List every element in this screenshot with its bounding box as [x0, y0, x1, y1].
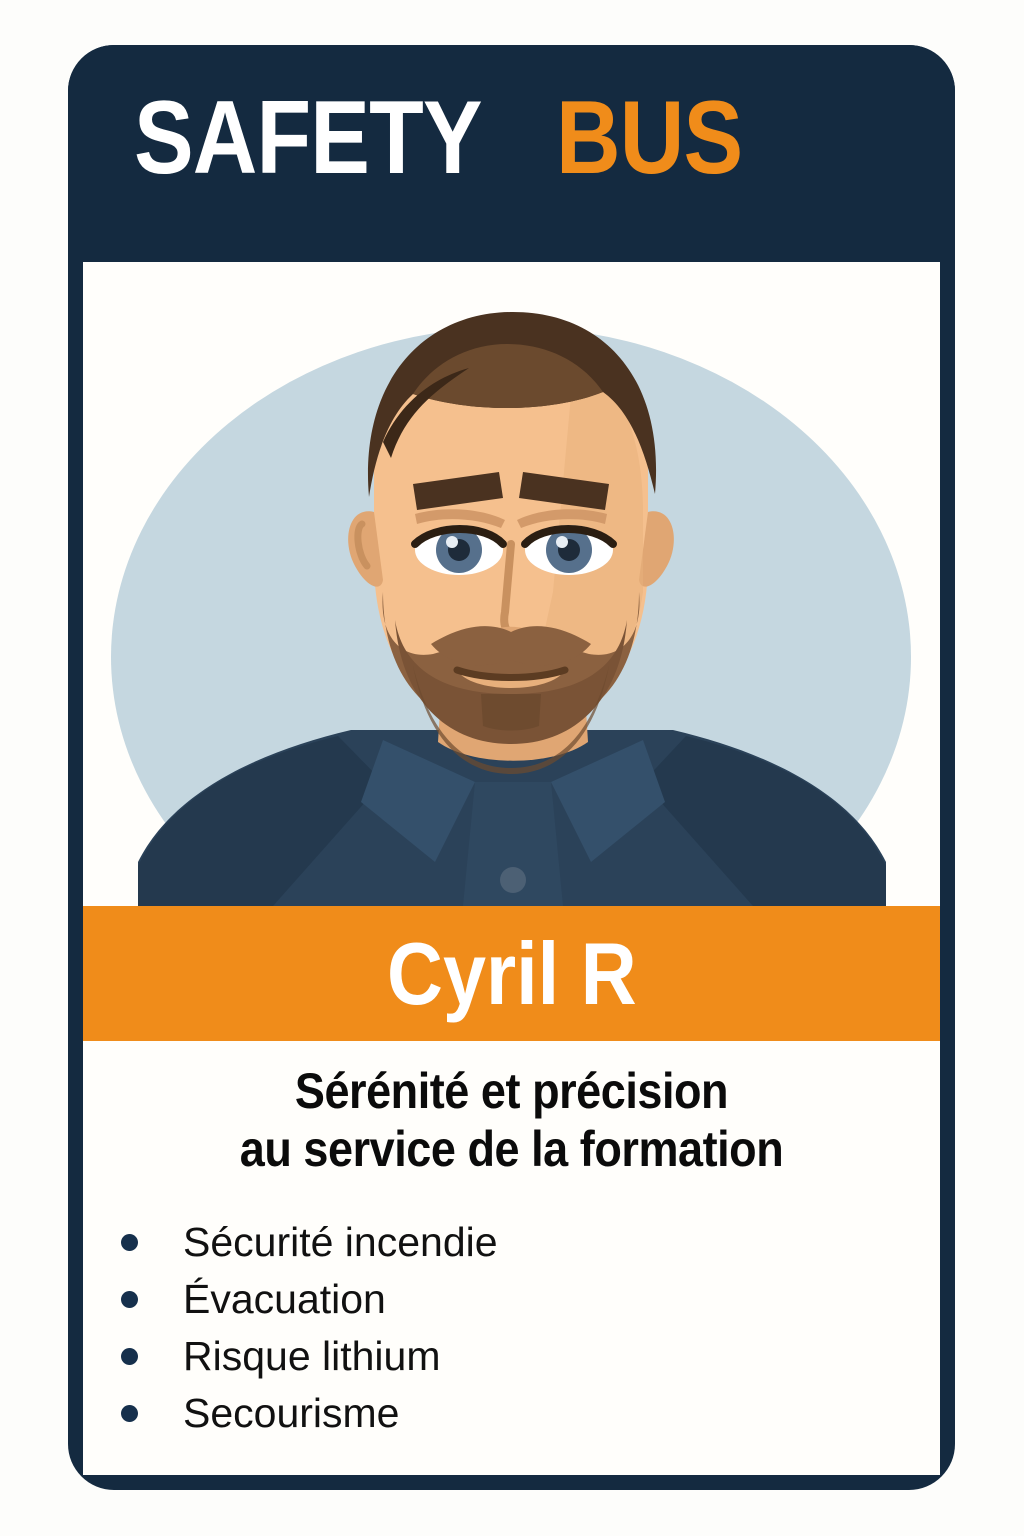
skill-label: Évacuation [183, 1279, 386, 1320]
tagline: Sérénité et précision au service de la f… [126, 1062, 897, 1178]
skills-list: Sécurité incendie Évacuation Risque lith… [99, 1214, 919, 1442]
portrait-illustration [83, 262, 940, 906]
tagline-line-2: au service de la formation [126, 1120, 897, 1178]
bullet-icon [121, 1348, 138, 1365]
bullet-icon [121, 1234, 138, 1251]
tagline-line-1: Sérénité et précision [126, 1062, 897, 1120]
person-name: Cyril R [387, 930, 637, 1018]
safety-bus-badge-card: SAFETY BUS [68, 45, 955, 1490]
list-item: Évacuation [99, 1271, 919, 1328]
bullet-icon [121, 1291, 138, 1308]
list-item: Sécurité incendie [99, 1214, 919, 1271]
skill-label: Secourisme [183, 1393, 399, 1434]
brand-word-bus: BUS [556, 91, 742, 187]
card-inner-panel: Cyril R Sérénité et précision au service… [83, 262, 940, 1475]
list-item: Secourisme [99, 1385, 919, 1442]
skill-label: Risque lithium [183, 1336, 441, 1377]
brand-lockup: SAFETY BUS [134, 91, 773, 187]
card-header-band: SAFETY BUS [68, 45, 955, 262]
list-item: Risque lithium [99, 1328, 919, 1385]
bullet-icon [121, 1405, 138, 1422]
brand-word-safety: SAFETY [134, 91, 482, 187]
skill-label: Sécurité incendie [183, 1222, 498, 1263]
name-banner: Cyril R [83, 906, 940, 1041]
portrait-frame [83, 262, 940, 906]
